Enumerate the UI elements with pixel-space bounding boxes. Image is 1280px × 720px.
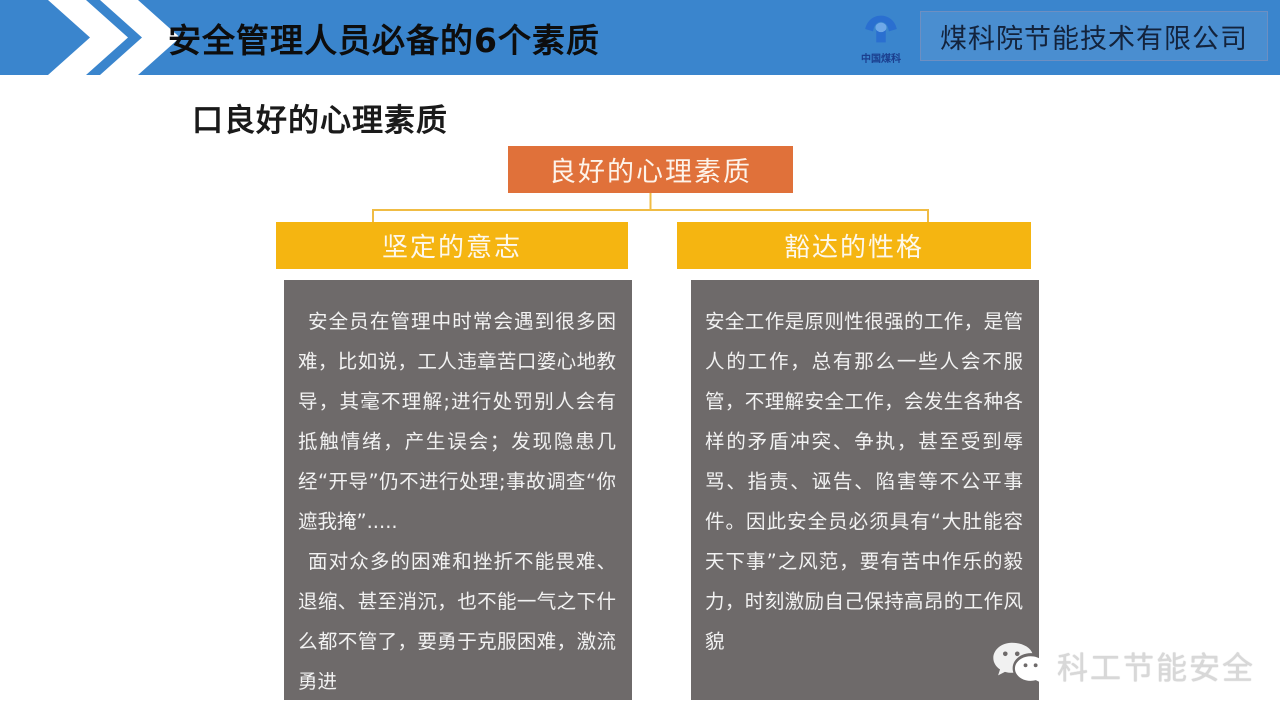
content-panel-1: 安全员在管理中时常会遇到很多困难，比如说，工人违章苦口婆心地教导，其毫不理解;进… (284, 280, 632, 700)
panel-2-paragraph-1: 安全工作是原则性很强的工作，是管人的工作，总有那么一些人会不服管，不理解安全工作… (705, 302, 1023, 662)
wechat-watermark: 科工节能安全 (992, 640, 1255, 690)
panel-1-paragraph-2: 面对众多的困难和挫折不能畏难、退缩、甚至消沉，也不能一气之下什么都不管了，要勇于… (298, 542, 616, 702)
double-chevron-right-icon (48, 0, 178, 75)
diagram-root-label: 良好的心理素质 (549, 150, 752, 189)
diagram-child-label-2: 豁达的性格 (784, 227, 924, 264)
coal-science-logo-icon (862, 14, 900, 48)
watermark-text: 科工节能安全 (1057, 643, 1255, 688)
slide-root: 安全管理人员必备的6个素质 中国煤科 煤科院节能技术有限公司 口良好的心理素质 … (0, 0, 1280, 720)
panel-1-paragraph-1: 安全员在管理中时常会遇到很多困难，比如说，工人违章苦口婆心地教导，其毫不理解;进… (298, 302, 616, 542)
company-name: 煤科院节能技术有限公司 (940, 17, 1248, 56)
section-subtitle: 口良好的心理素质 (192, 95, 448, 140)
slide-header: 安全管理人员必备的6个素质 中国煤科 煤科院节能技术有限公司 (0, 0, 1280, 75)
company-logo: 中国煤科 (845, 8, 917, 70)
logo-text: 中国煤科 (861, 50, 901, 65)
page-title: 安全管理人员必备的6个素质 (168, 14, 600, 62)
content-panel-2: 安全工作是原则性很强的工作，是管人的工作，总有那么一些人会不服管，不理解安全工作… (691, 280, 1039, 700)
diagram-child-label-1: 坚定的意志 (382, 227, 522, 264)
diagram-child-node-1: 坚定的意志 (276, 222, 628, 269)
diagram-root-node: 良好的心理素质 (508, 146, 793, 193)
company-name-box: 煤科院节能技术有限公司 (920, 11, 1268, 61)
wechat-icon (992, 640, 1048, 690)
diagram-child-node-2: 豁达的性格 (677, 222, 1031, 269)
